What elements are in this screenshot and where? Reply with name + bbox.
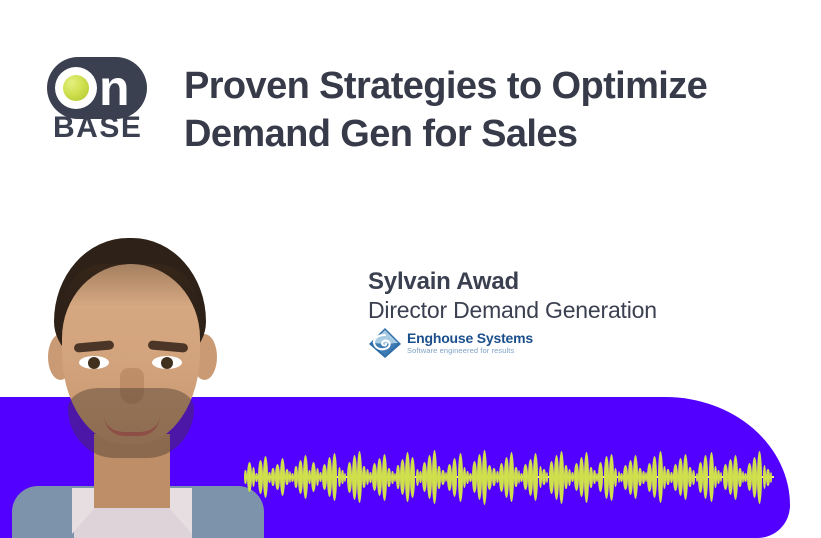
waveform-bar xyxy=(298,460,303,494)
waveform-bar xyxy=(709,452,714,502)
waveform-bar xyxy=(347,462,352,493)
company-name: Enghouse Systems xyxy=(407,331,533,346)
company-text: Enghouse Systems Software engineered for… xyxy=(407,331,533,355)
waveform-bar xyxy=(598,462,603,492)
company-block: Enghouse Systems Software engineered for… xyxy=(368,327,708,359)
title-line-1: Proven Strategies to Optimize xyxy=(184,62,804,110)
waveform-bar xyxy=(452,458,457,497)
waveform-bar xyxy=(352,455,357,500)
logo-base-word: BASE xyxy=(53,112,142,144)
waveform-bar xyxy=(554,455,559,500)
onbase-logo: n BASE xyxy=(47,57,147,145)
headshot-forehead-shading xyxy=(64,264,198,306)
waveform-bar xyxy=(499,463,504,492)
enghouse-diamond-eye-icon xyxy=(368,327,402,359)
title-line-2: Demand Gen for Sales xyxy=(184,110,804,158)
waveform-bar xyxy=(757,451,762,504)
waveform-bar xyxy=(311,462,316,492)
waveform-bar xyxy=(692,470,696,485)
company-tagline: Software engineered for results xyxy=(407,347,533,355)
waveform-bar xyxy=(723,464,728,490)
green-sphere-icon xyxy=(63,75,89,101)
waveform-bar xyxy=(410,457,415,498)
waveform-bar xyxy=(533,453,538,501)
logo-letter-n: n xyxy=(99,63,143,113)
speaker-name: Sylvain Awad xyxy=(368,268,708,296)
waveform-bar xyxy=(549,461,554,494)
headshot-pupil-left xyxy=(88,357,100,369)
waveform-bars xyxy=(244,449,774,505)
waveform-bar xyxy=(247,462,252,492)
waveform-bar xyxy=(441,470,445,485)
headshot-eye-left xyxy=(79,356,109,369)
waveform-bar xyxy=(652,456,657,498)
waveform-bar xyxy=(703,455,708,499)
headshot-eye-right xyxy=(152,356,182,369)
waveform-bar xyxy=(604,456,609,499)
waveform-bar xyxy=(458,453,463,502)
speaker-info: Sylvain Awad Director Demand Generation … xyxy=(368,268,708,359)
waveform-bar xyxy=(332,453,337,501)
page-title: Proven Strategies to Optimize Demand Gen… xyxy=(184,62,804,158)
waveform-bar xyxy=(770,472,773,483)
audio-waveform xyxy=(244,449,774,505)
waveform-bar xyxy=(614,468,618,487)
speaker-role: Director Demand Generation xyxy=(368,296,708,324)
webinar-promo-slide: n BASE Proven Strategies to Optimize Dem… xyxy=(0,0,821,538)
speaker-headshot xyxy=(12,238,264,538)
headshot-pupil-right xyxy=(161,357,173,369)
waveform-bar xyxy=(658,451,663,503)
